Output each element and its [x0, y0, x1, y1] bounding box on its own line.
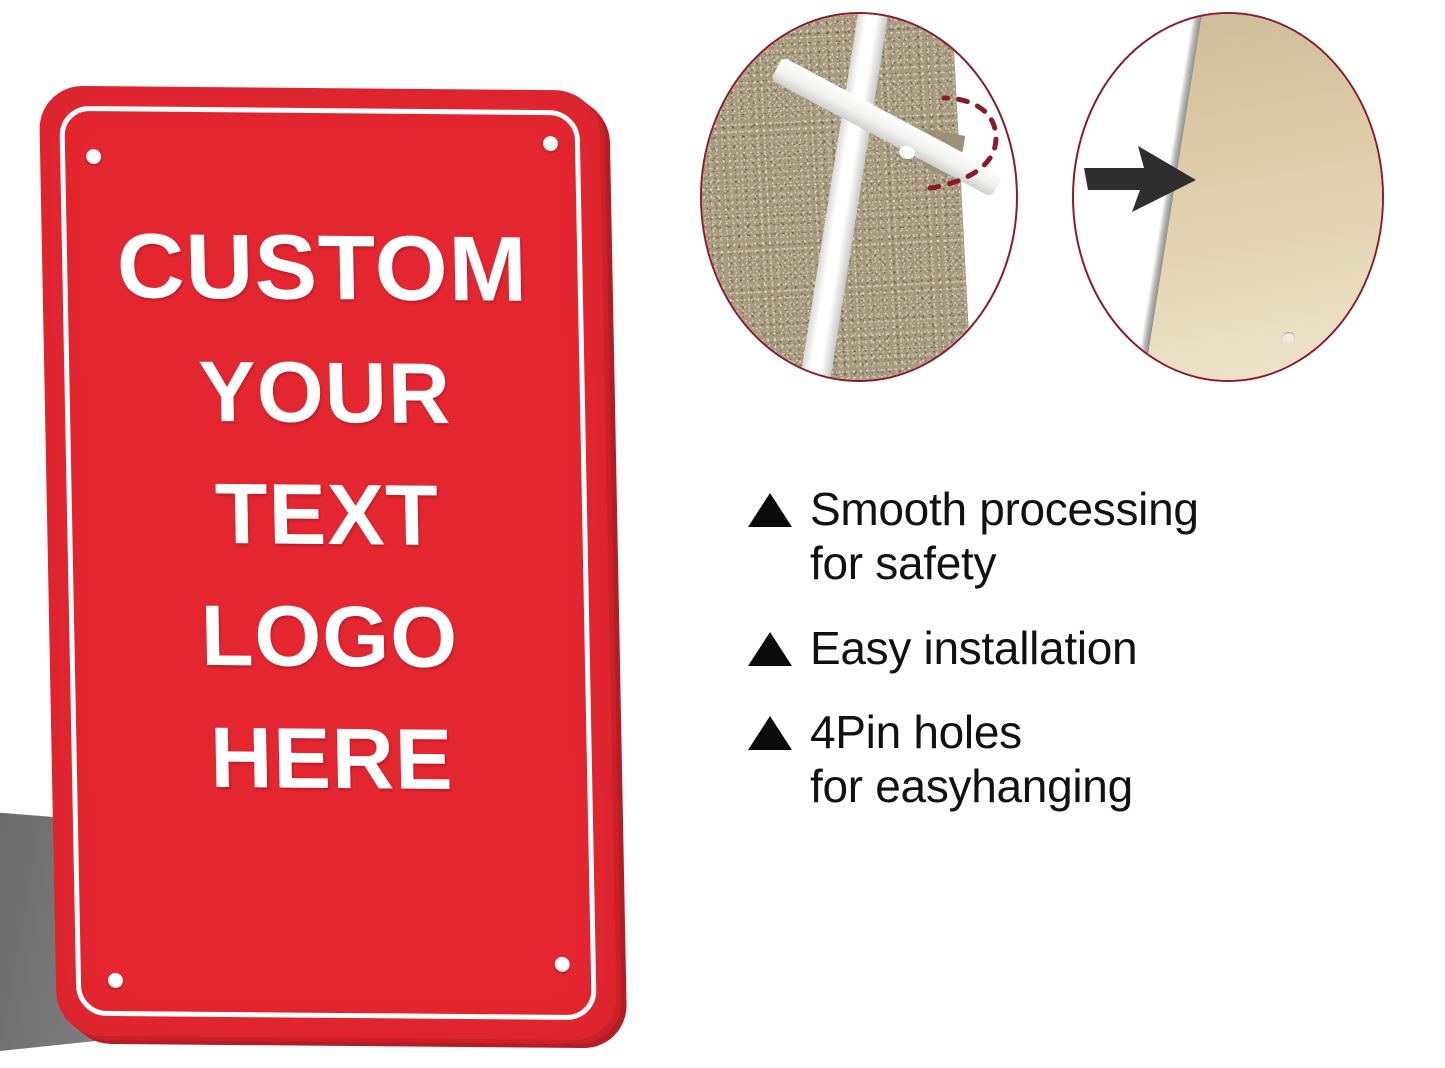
sign-text-block: CUSTOM YOUR TEXT LOGO HERE [41, 220, 612, 805]
feature-line-1: 4Pin holes [810, 705, 1133, 759]
triangle-bullet-icon [748, 632, 792, 666]
sign-line-5: HERE [51, 714, 613, 805]
feature-line-1: Easy installation [810, 621, 1137, 675]
product-photo: CUSTOM YOUR TEXT LOGO HERE [0, 0, 660, 1068]
feature-text: Easy installation [810, 621, 1137, 675]
sign-line-1: CUSTOM [39, 220, 609, 317]
sign-line-2: YOUR [44, 348, 606, 439]
feature-list: Smooth processing for safety Easy instal… [748, 482, 1388, 813]
arrow-right-icon [1082, 140, 1198, 218]
detail-mounting-hole [1282, 332, 1295, 343]
rounded-corner-detail-inset [700, 12, 1018, 382]
feature-text: 4Pin holes for easyhanging [810, 705, 1133, 814]
smooth-edge-detail-inset [1072, 12, 1384, 382]
triangle-bullet-icon [748, 493, 792, 527]
feature-line-1: Smooth processing [810, 482, 1199, 536]
top-left-mounting-hole [86, 149, 101, 164]
feature-line-2: for easyhanging [810, 759, 1133, 813]
sign-face: CUSTOM YOUR TEXT LOGO HERE [39, 86, 617, 1041]
feature-line-2: for safety [810, 536, 1199, 590]
bottom-right-mounting-hole [555, 957, 570, 972]
sign-line-4: LOGO [48, 592, 610, 683]
feature-item-pin-holes: 4Pin holes for easyhanging [748, 705, 1388, 814]
top-right-mounting-hole [543, 136, 558, 151]
dashed-arc-highlight-icon [924, 92, 1010, 192]
triangle-bullet-icon [748, 716, 792, 750]
sign-line-3: TEXT [46, 470, 608, 561]
feature-item-easy-installation: Easy installation [748, 621, 1388, 675]
bottom-left-mounting-hole [108, 973, 123, 988]
feature-item-smooth-processing: Smooth processing for safety [748, 482, 1388, 591]
feature-text: Smooth processing for safety [810, 482, 1199, 591]
custom-sign: CUSTOM YOUR TEXT LOGO HERE [39, 86, 617, 1041]
